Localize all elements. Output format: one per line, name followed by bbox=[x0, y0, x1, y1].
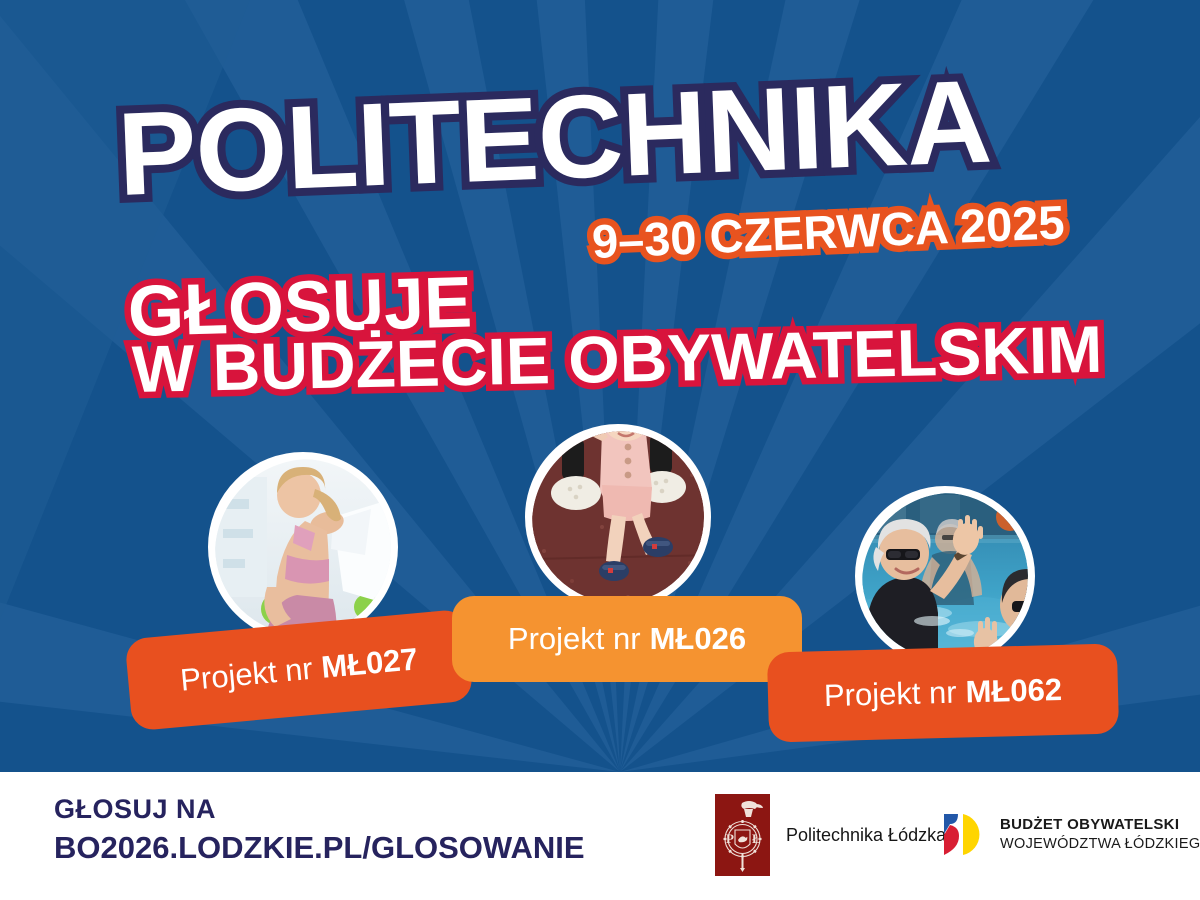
project-code: MŁ027 bbox=[320, 641, 419, 686]
project-code: MŁ026 bbox=[650, 621, 746, 657]
seniors-water-aerobics-illustration bbox=[862, 493, 1028, 659]
project-label-lead: Projekt nr bbox=[823, 675, 957, 714]
logo-politechnika-lodzka: P Ł Politechnika Łódzka bbox=[715, 794, 946, 876]
physiotherapy-session-illustration bbox=[215, 459, 391, 635]
project-photo-toddler bbox=[525, 424, 711, 610]
svg-text:Ł: Ł bbox=[752, 831, 761, 846]
call-to-action: GŁOSUJ NA BO2026.LODZKIE.PL/GLOSOWANIE bbox=[54, 794, 585, 866]
politechnika-name: Politechnika Łódzka bbox=[786, 825, 946, 846]
project-photo-physiotherapy bbox=[208, 452, 398, 642]
project-label-ml026[interactable]: Projekt nr MŁ026 bbox=[452, 596, 802, 682]
budzet-line-2: WOJEWÓDZTWA ŁÓDZKIEGO bbox=[1000, 835, 1200, 853]
project-label-lead: Projekt nr bbox=[508, 621, 641, 657]
toddler-on-playground-illustration bbox=[532, 431, 704, 603]
politechnika-crest-icon: P Ł bbox=[715, 794, 770, 876]
budzet-obywatelski-mark-icon bbox=[941, 812, 988, 857]
hero-banner: POLITECHNIKA 9–30 CZERWCA 2025 GŁOSUJE W… bbox=[0, 0, 1200, 772]
logo-budzet-obywatelski: BUDŻET OBYWATELSKI WOJEWÓDZTWA ŁÓDZKIEGO bbox=[941, 812, 1200, 857]
poster-root: POLITECHNIKA 9–30 CZERWCA 2025 GŁOSUJE W… bbox=[0, 0, 1200, 900]
voting-url[interactable]: BO2026.LODZKIE.PL/GLOSOWANIE bbox=[54, 829, 585, 866]
project-label-ml062[interactable]: Projekt nr MŁ062 bbox=[767, 643, 1119, 742]
svg-text:P: P bbox=[726, 831, 734, 846]
project-photo-water-aerobics bbox=[855, 486, 1035, 666]
project-code: MŁ062 bbox=[965, 672, 1062, 711]
budzet-obywatelski-text: BUDŻET OBYWATELSKI WOJEWÓDZTWA ŁÓDZKIEGO bbox=[1000, 816, 1200, 853]
budzet-line-1: BUDŻET OBYWATELSKI bbox=[1000, 816, 1200, 835]
cta-lead-text: GŁOSUJ NA bbox=[54, 794, 585, 825]
footer-bar: GŁOSUJ NA BO2026.LODZKIE.PL/GLOSOWANIE bbox=[0, 772, 1200, 900]
project-label-lead: Projekt nr bbox=[179, 651, 314, 699]
